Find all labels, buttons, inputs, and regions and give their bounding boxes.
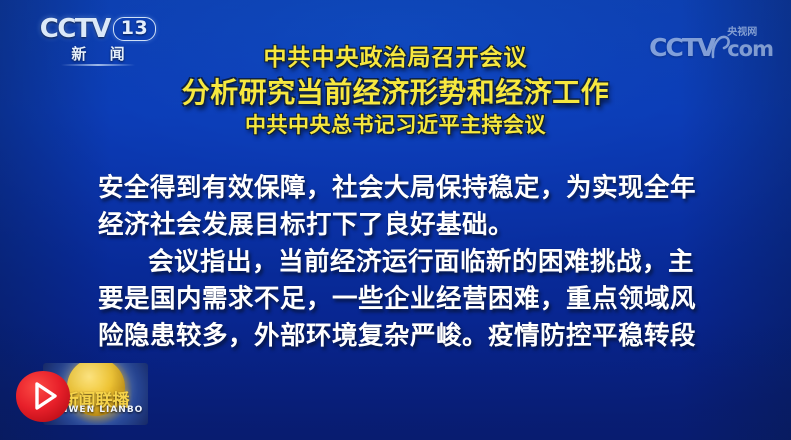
headline-block: 中共中央政治局召开会议 分析研究当前经济形势和经济工作 中共中央总书记习近平主持… xyxy=(0,46,791,138)
cctv-wordmark: CCTV xyxy=(40,16,110,42)
headline-line-3: 中共中央总书记习近平主持会议 xyxy=(0,114,791,138)
headline-line-2: 分析研究当前经济形势和经济工作 xyxy=(0,77,791,108)
broadcast-frame: CCTV 13 新 闻 CCTV 央视网 com 中共中央政治局召开会议 分析研… xyxy=(0,0,791,440)
body-line: 要是国内需求不足，一些企业经营困难，重点领域风 xyxy=(98,281,703,318)
play-button[interactable] xyxy=(14,369,72,424)
body-line: 险隐患较多，外部环境复杂严峻。疫情防控平稳转段 xyxy=(98,318,703,355)
cctv13-logo-row: CCTV 13 xyxy=(42,16,154,42)
body-copy-block: 安全得到有效保障，社会大局保持稳定，为实现全年 经济社会发展目标打下了良好基础。… xyxy=(98,170,703,355)
body-line: 会议指出，当前经济运行面临新的困难挑战，主 xyxy=(98,244,703,281)
headline-line-1: 中共中央政治局召开会议 xyxy=(0,46,791,72)
body-line: 安全得到有效保障，社会大局保持稳定，为实现全年 xyxy=(98,170,703,207)
cctv-channel-number: 13 xyxy=(113,17,156,42)
body-line: 经济社会发展目标打下了良好基础。 xyxy=(98,207,703,244)
